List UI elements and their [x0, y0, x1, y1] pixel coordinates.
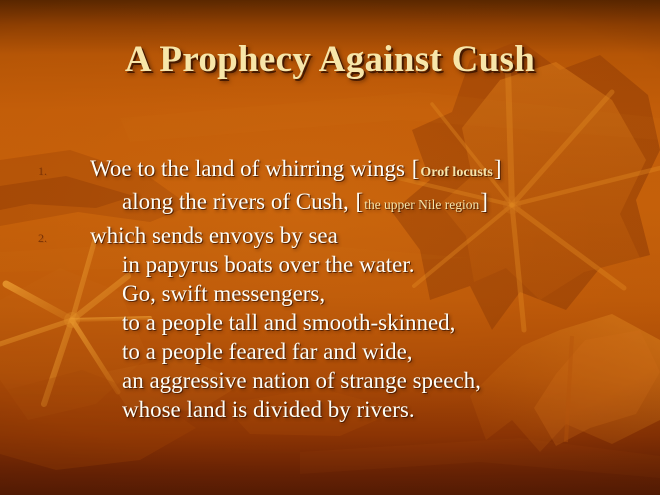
footnote-text-italic: of locusts	[437, 165, 493, 180]
presentation-slide: A Prophecy Against Cush 1. Woe to the la…	[0, 0, 660, 495]
verse-line: Go, swift messengers,	[90, 279, 660, 308]
footnote-open-bracket: [	[355, 189, 365, 214]
footnote-open-bracket: [	[411, 156, 421, 181]
footnote-close-bracket: ]	[493, 156, 503, 181]
verse-line: which sends envoys by sea	[90, 221, 660, 250]
slide-title: A Prophecy Against Cush	[0, 40, 660, 81]
verse-lines: Woe to the land of whirring wings [Orof …	[0, 154, 660, 219]
footnote-close-bracket: ]	[479, 189, 489, 214]
verse-line: an aggressive nation of strange speech,	[90, 366, 660, 395]
verse-line: to a people feared far and wide,	[90, 337, 660, 366]
verse-line-text: along the rivers of Cush,	[122, 189, 355, 214]
verse-number: 1.	[38, 165, 47, 177]
verse-list: 1. Woe to the land of whirring wings [Or…	[0, 154, 660, 424]
verse-line: whose land is divided by rivers.	[90, 395, 660, 424]
verse-item: 1. Woe to the land of whirring wings [Or…	[0, 154, 660, 219]
verse-line: Woe to the land of whirring wings [Orof …	[90, 154, 660, 187]
verse-line: to a people tall and smooth-skinned,	[90, 308, 660, 337]
verse-item: 2. which sends envoys by sea in papyrus …	[0, 221, 660, 424]
verse-line-text: Woe to the land of whirring wings	[90, 156, 411, 181]
footnote-annotation: [Orof locusts]	[411, 156, 503, 181]
verse-number: 2.	[38, 232, 47, 244]
footnote-annotation: [the upper Nile region]	[355, 189, 489, 214]
verse-lines: which sends envoys by sea in papyrus boa…	[0, 221, 660, 424]
footnote-text: the upper Nile region	[364, 197, 479, 212]
verse-line: in papyrus boats over the water.	[90, 250, 660, 279]
verse-line: along the rivers of Cush, [the upper Nil…	[90, 187, 660, 219]
footnote-text: Or	[420, 165, 437, 180]
